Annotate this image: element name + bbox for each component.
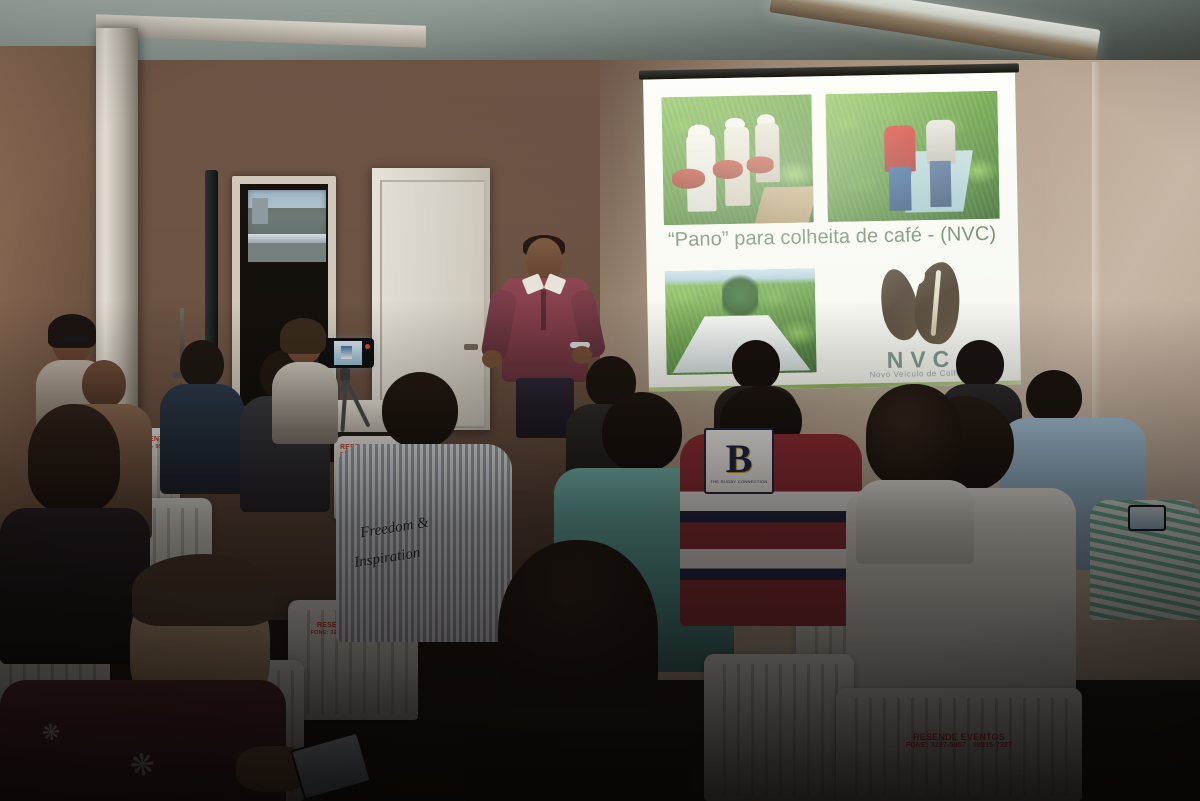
window-building (252, 198, 268, 224)
audience-member-rugby-jersey: B THE RUGBY CONNECTION (680, 386, 862, 626)
harvest-basket (672, 168, 705, 189)
torso (272, 362, 338, 444)
shirt-print-graphic: ❋ (41, 719, 62, 747)
coffee-bean-icon (881, 262, 961, 345)
chair[interactable] (704, 654, 854, 801)
slide-caption: “Pano” para colheita de café - (NVC) (646, 222, 1018, 252)
chair-branding: RESENDE EVENTOS FONE: 3227-5957 - 99815-… (836, 732, 1082, 750)
presenter-hand-left (482, 350, 502, 368)
patch-subtext: THE RUGBY CONNECTION (710, 479, 767, 484)
hair (28, 404, 120, 512)
dark-pole (205, 170, 218, 350)
presenter-placket (541, 290, 546, 330)
head (180, 340, 224, 388)
harvest-basket (712, 160, 742, 180)
jersey-patch: B THE RUGBY CONNECTION (704, 428, 774, 494)
eyeglasses-icon (64, 336, 88, 342)
audience-member-striped-green (1090, 470, 1200, 620)
hair (48, 314, 96, 348)
audience-member-curly-hair (856, 384, 976, 564)
head (732, 340, 780, 390)
hair (132, 554, 274, 626)
window (248, 190, 326, 262)
window-ground (248, 243, 326, 262)
slide-photo-top-left (661, 94, 813, 225)
presentation-room-photo: “Pano” para colheita de café - (NVC) NVC… (0, 0, 1200, 801)
picker-body (755, 123, 780, 182)
torso (464, 710, 694, 801)
shirt-print-graphic: ❋ (128, 747, 157, 784)
head (956, 340, 1004, 388)
hair (498, 540, 658, 730)
window-rail (248, 234, 326, 243)
worker-white-shirt (926, 120, 956, 164)
head (382, 372, 458, 448)
head (602, 392, 682, 472)
slide-photo-top-right (825, 91, 999, 222)
dirt-path (755, 186, 814, 223)
torso (160, 384, 244, 494)
head (82, 360, 126, 408)
door-handle-icon[interactable] (464, 344, 478, 350)
worker-jeans (930, 161, 952, 207)
torso (856, 480, 974, 564)
held-phone-right[interactable] (1128, 505, 1166, 531)
patch-letter: B (726, 439, 753, 479)
worker-jeans (889, 167, 912, 211)
record-indicator-icon (365, 344, 370, 349)
chair-slats (712, 664, 846, 795)
harvest-basket (747, 157, 774, 174)
audience-member-long-hair (464, 540, 694, 801)
chair[interactable]: RESENDE EVENTOS FONE: 3227-5957 - 99815-… (836, 688, 1082, 801)
worker-red-shirt (884, 126, 916, 173)
tree (722, 274, 759, 316)
audience-member-woman-standing-back (268, 322, 344, 442)
audience-member-back-left (160, 340, 246, 490)
hair (866, 384, 962, 488)
hair (280, 318, 326, 354)
